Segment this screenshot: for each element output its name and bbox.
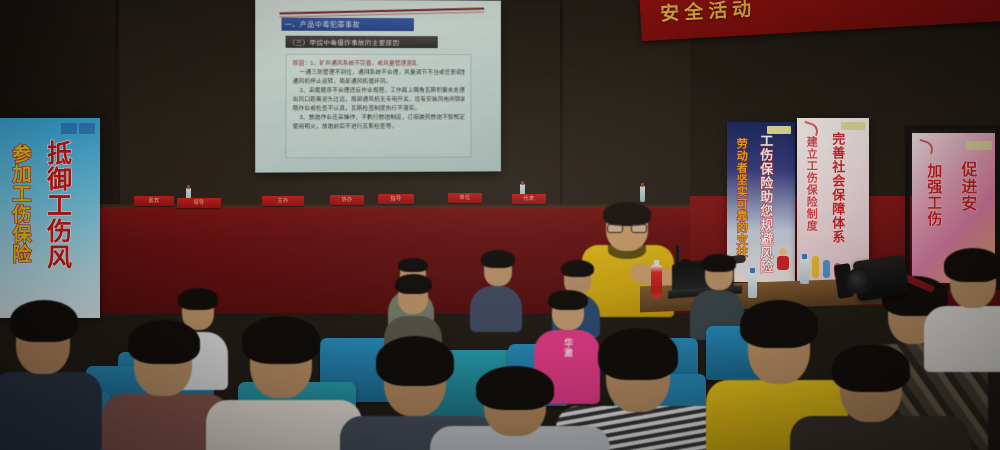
swoosh-icon	[802, 121, 821, 136]
name-placard: 主办	[262, 196, 304, 206]
banner-badge-icon	[767, 126, 791, 134]
banner-left-red-text: 抵御工伤风	[44, 140, 70, 270]
banner-b-side-text: 劳动者坚实可靠的支柱	[735, 138, 746, 258]
slide-body-line: 3、放炮作业违章操作，不执行放炮制度，打眼装药放炮不按规定执行，	[293, 114, 465, 123]
audience-member	[800, 346, 950, 450]
slide-body-line: 出风口距离迎头过远，局部通风机无专用开关，没有安装风电闭锁装置，瓦斯超	[293, 96, 465, 105]
name-placard: 单位	[448, 193, 482, 203]
mascot-figure-icon	[775, 248, 791, 276]
slide-subheading-text: （三）甲烷中毒爆炸事故的主要原因	[289, 37, 400, 47]
name-placard: 指导	[378, 194, 414, 204]
camera-lens	[846, 268, 872, 294]
slide-body-line: 通风机停止运转，局部通风机循环风。	[293, 78, 465, 87]
slide-body-line: 一通三防管理不到位，通风系统不合理，风量调节不当或任意调整风流方向，主要	[293, 69, 465, 78]
audience-member	[0, 300, 92, 450]
banner-badge-icon	[841, 122, 865, 130]
audience-member	[470, 252, 522, 328]
water-bottle	[640, 186, 645, 202]
banner-left-workinsurance: 参加工伤保险 抵御工伤风	[0, 118, 100, 318]
water-bottle	[800, 258, 809, 284]
glasses-icon	[607, 224, 647, 233]
name-placard: 协办	[330, 195, 364, 205]
slide-body-line: 原因：1、矿井通风系统不完善，或风量管理混乱	[293, 60, 465, 69]
audience-member	[216, 316, 344, 450]
name-placard: 嘉宾	[134, 196, 174, 206]
banner-c-main-text: 完善社会保障体系	[831, 132, 844, 244]
name-placard: 领导	[177, 198, 221, 208]
slide-body-line: 使用明火，放炮前后不进行瓦斯检查等。	[293, 123, 465, 132]
audience-member	[440, 370, 590, 450]
conference-room-photo: 安全活动 一、产品中毒犯罪事故 （三）甲烷中毒爆炸事故的主要原因 原因：1、矿井…	[0, 0, 1000, 450]
banner-logo-icon	[61, 123, 95, 134]
name-placard: 代表	[512, 194, 546, 204]
banner-b-main-text: 工伤保险助您规避风险	[759, 134, 772, 274]
banner-c-side-text: 建立工伤保险制度	[805, 136, 816, 232]
slide-body-line: 2、采掘顺序不合理违反作业规程，工作面上隅角瓦斯积聚未处理，风筒	[293, 87, 465, 96]
speaker-hair	[603, 202, 651, 226]
coca-cola-bottle	[651, 265, 662, 298]
slide-heading: 一、产品中毒犯罪事故	[282, 18, 414, 32]
slide-content: 一、产品中毒犯罪事故 （三）甲烷中毒爆炸事故的主要原因 原因：1、矿井通风系统不…	[255, 0, 501, 173]
slide-subheading: （三）甲烷中毒爆炸事故的主要原因	[286, 36, 438, 48]
slide-body: 原因：1、矿井通风系统不完善，或风量管理混乱 一通三防管理不到位，通风系统不合理…	[286, 54, 472, 159]
banner-left-yellow-text: 参加工伤保险	[10, 144, 29, 264]
water-bottle	[748, 272, 757, 298]
audience-member	[108, 320, 218, 450]
slide-body-line: 限作业或检查不认真，瓦斯检查制度执行不落实。	[293, 105, 465, 114]
projection-screen: 一、产品中毒犯罪事故 （三）甲烷中毒爆炸事故的主要原因 原因：1、矿井通风系统不…	[255, 0, 501, 173]
slide-heading-text: 一、产品中毒犯罪事故	[285, 19, 360, 29]
